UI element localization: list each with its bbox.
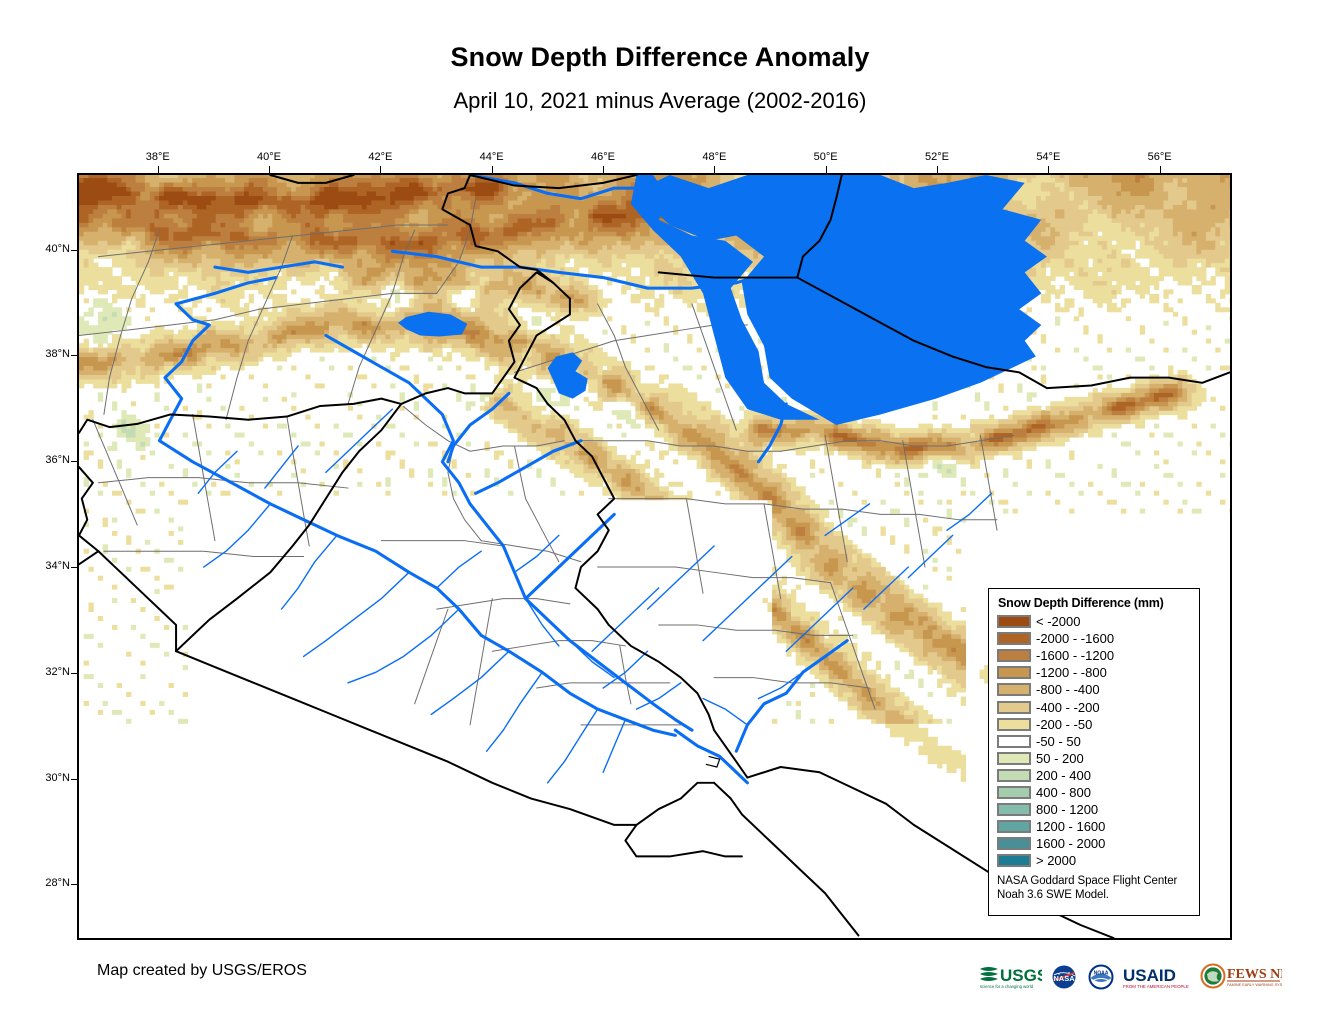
legend-swatch bbox=[997, 786, 1031, 799]
nasa-logo: NASA bbox=[1049, 962, 1079, 992]
lon-tick-label: 42°E bbox=[350, 151, 410, 163]
lon-tick-label: 52°E bbox=[907, 151, 967, 163]
lon-tick-mark bbox=[492, 166, 493, 173]
page-subtitle: April 10, 2021 minus Average (2002-2016) bbox=[0, 88, 1320, 114]
legend-label: -200 - -50 bbox=[1036, 718, 1092, 731]
lat-tick-label: 40°N bbox=[8, 243, 70, 255]
legend-label: -1600 - -1200 bbox=[1036, 649, 1114, 662]
legend-swatch bbox=[997, 649, 1031, 662]
legend-row: -400 - -200 bbox=[997, 698, 1191, 715]
legend-row: -800 - -400 bbox=[997, 681, 1191, 698]
lat-tick-label: 38°N bbox=[8, 348, 70, 360]
lat-tick-label: 34°N bbox=[8, 560, 70, 572]
lon-tick-label: 38°E bbox=[128, 151, 188, 163]
lon-tick-label: 40°E bbox=[239, 151, 299, 163]
legend-label: 1600 - 2000 bbox=[1036, 837, 1105, 850]
lat-tick-label: 32°N bbox=[8, 666, 70, 678]
legend-label: 400 - 800 bbox=[1036, 786, 1091, 799]
legend-swatch bbox=[997, 854, 1031, 867]
legend-title: Snow Depth Difference (mm) bbox=[998, 596, 1191, 610]
legend-label: -1200 - -800 bbox=[1036, 666, 1107, 679]
lon-tick-mark bbox=[269, 166, 270, 173]
lon-tick-label: 48°E bbox=[684, 151, 744, 163]
legend-panel: Snow Depth Difference (mm) < -2000-2000 … bbox=[988, 588, 1200, 916]
lon-tick-label: 46°E bbox=[573, 151, 633, 163]
legend-row: 800 - 1200 bbox=[997, 801, 1191, 818]
lon-tick-label: 56°E bbox=[1130, 151, 1190, 163]
legend-swatch bbox=[997, 752, 1031, 765]
lon-tick-mark bbox=[1048, 166, 1049, 173]
legend-label: -2000 - -1600 bbox=[1036, 632, 1114, 645]
legend-swatch bbox=[997, 615, 1031, 628]
legend-row: -200 - -50 bbox=[997, 716, 1191, 733]
legend-swatch bbox=[997, 769, 1031, 782]
legend-source-note: NASA Goddard Space Flight Center Noah 3.… bbox=[997, 875, 1191, 902]
legend-class-list: < -2000-2000 - -1600-1600 - -1200-1200 -… bbox=[997, 613, 1191, 869]
usaid-logo: USAID FROM THE AMERICAN PEOPLE bbox=[1123, 962, 1193, 992]
legend-swatch bbox=[997, 632, 1031, 645]
legend-row: 200 - 400 bbox=[997, 767, 1191, 784]
legend-row: -50 - 50 bbox=[997, 733, 1191, 750]
legend-swatch bbox=[997, 735, 1031, 748]
legend-row: 1600 - 2000 bbox=[997, 835, 1191, 852]
legend-label: -400 - -200 bbox=[1036, 701, 1100, 714]
map-page: Snow Depth Difference Anomaly April 10, … bbox=[0, 0, 1320, 1020]
lon-tick-mark bbox=[826, 166, 827, 173]
legend-label: 1200 - 1600 bbox=[1036, 820, 1105, 833]
legend-label: -800 - -400 bbox=[1036, 683, 1100, 696]
legend-label: < -2000 bbox=[1036, 615, 1080, 628]
legend-label: -50 - 50 bbox=[1036, 735, 1081, 748]
legend-label: 200 - 400 bbox=[1036, 769, 1091, 782]
legend-label: > 2000 bbox=[1036, 854, 1076, 867]
usgs-logo: USGS science for a changing world bbox=[978, 962, 1042, 992]
legend-row: -1600 - -1200 bbox=[997, 647, 1191, 664]
legend-swatch bbox=[997, 803, 1031, 816]
lon-tick-label: 50°E bbox=[796, 151, 856, 163]
legend-row: -1200 - -800 bbox=[997, 664, 1191, 681]
legend-label: 800 - 1200 bbox=[1036, 803, 1098, 816]
lon-tick-mark bbox=[380, 166, 381, 173]
lat-tick-label: 28°N bbox=[8, 877, 70, 889]
lon-tick-mark bbox=[1160, 166, 1161, 173]
legend-label: 50 - 200 bbox=[1036, 752, 1084, 765]
lat-tick-label: 30°N bbox=[8, 772, 70, 784]
lon-tick-label: 54°E bbox=[1018, 151, 1078, 163]
legend-row: 50 - 200 bbox=[997, 750, 1191, 767]
legend-swatch bbox=[997, 701, 1031, 714]
lon-tick-mark bbox=[714, 166, 715, 173]
lon-tick-mark bbox=[158, 166, 159, 173]
legend-row: 400 - 800 bbox=[997, 784, 1191, 801]
page-title: Snow Depth Difference Anomaly bbox=[0, 42, 1320, 73]
legend-swatch bbox=[997, 683, 1031, 696]
noaa-logo: NOAA bbox=[1086, 962, 1116, 992]
lon-tick-mark bbox=[603, 166, 604, 173]
legend-swatch bbox=[997, 666, 1031, 679]
agency-logo-row: USGS science for a changing world NASA N… bbox=[978, 958, 1240, 996]
lat-tick-label: 36°N bbox=[8, 454, 70, 466]
legend-swatch bbox=[997, 837, 1031, 850]
legend-swatch bbox=[997, 718, 1031, 731]
lon-tick-mark bbox=[937, 166, 938, 173]
legend-row: < -2000 bbox=[997, 613, 1191, 630]
legend-swatch bbox=[997, 820, 1031, 833]
fewsnet-logo: FEWS NET FAMINE EARLY WARNING SYSTEMS NE… bbox=[1200, 962, 1282, 992]
map-credit: Map created by USGS/EROS bbox=[97, 962, 307, 980]
legend-row: 1200 - 1600 bbox=[997, 818, 1191, 835]
legend-row: > 2000 bbox=[997, 852, 1191, 869]
lon-tick-label: 44°E bbox=[462, 151, 522, 163]
legend-row: -2000 - -1600 bbox=[997, 630, 1191, 647]
